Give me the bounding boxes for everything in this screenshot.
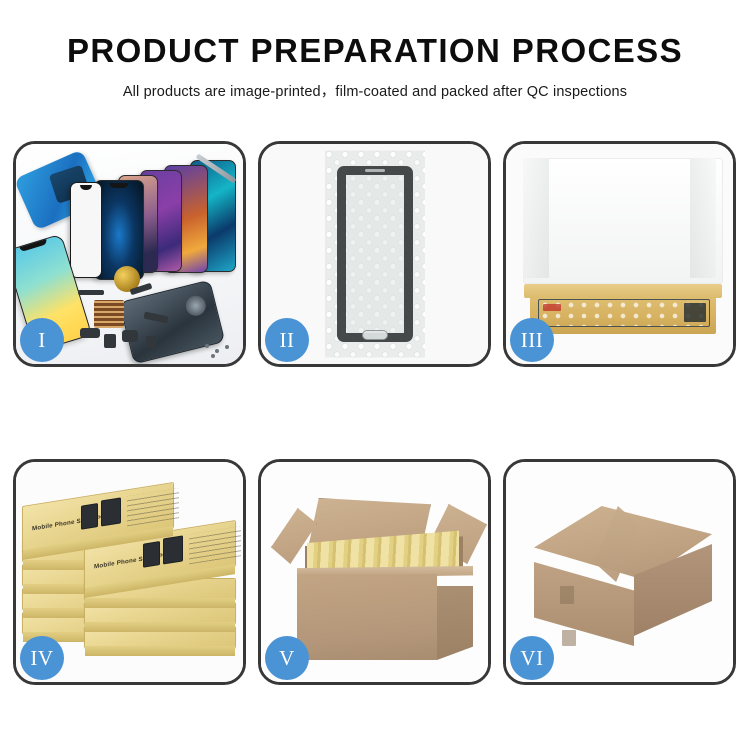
phone-notch-icon [109,183,128,188]
box-thumbnail-b [163,535,183,564]
phone-notch-icon [80,185,92,190]
step-panel-3[interactable]: III [503,141,736,367]
connector-c [80,328,100,338]
packed-screen [538,299,710,327]
box-side [85,646,235,656]
screw-3 [225,345,229,349]
step-panel-4[interactable]: Mobile Phone Spare Parts Mobile Phone Sp… [13,459,246,685]
step-badge-4: IV [20,636,64,680]
chip-grid-icon [94,300,124,328]
screw-4 [211,354,215,358]
carton-front-face [297,574,437,660]
step-badge-3: III [510,318,554,362]
page-header: PRODUCT PREPARATION PROCESS All products… [0,0,750,101]
foam-flap-right [690,158,716,278]
connector-g [146,336,156,348]
phone-display-fan [68,158,238,278]
step-panel-5[interactable]: V [258,459,491,685]
wrapped-phone-screen [337,166,413,342]
step-panel-1[interactable]: I [13,141,246,367]
screws-group [205,344,233,358]
box-thumbnail-b [101,497,121,526]
screw-2 [215,349,219,353]
page-subtitle: All products are image-printed，film-coat… [0,80,750,101]
step-badge-6: VI [510,636,554,680]
foam-flap-left [523,158,549,278]
page-title: PRODUCT PREPARATION PROCESS [0,34,750,69]
connector-e [122,330,138,342]
small-components-group [78,284,188,356]
step-badge-2: II [265,318,309,362]
step-badge-5: V [265,636,309,680]
carton-mark-upper [560,586,574,604]
screw-1 [205,344,209,348]
box-thumbnail-a [81,503,98,530]
step-panel-2[interactable]: II [258,141,491,367]
step-panel-6[interactable]: VI [503,459,736,685]
connector-d [104,334,116,348]
process-steps-grid: I II III [13,141,737,685]
flex-cable-f [144,312,169,324]
flex-cable-a [78,290,104,295]
step-badge-1: I [20,318,64,362]
box-side [85,622,235,632]
box-side [85,598,235,608]
box-thumbnail-a [143,541,160,568]
carton-mark-lower [562,630,576,646]
phone-display-0 [70,182,102,278]
